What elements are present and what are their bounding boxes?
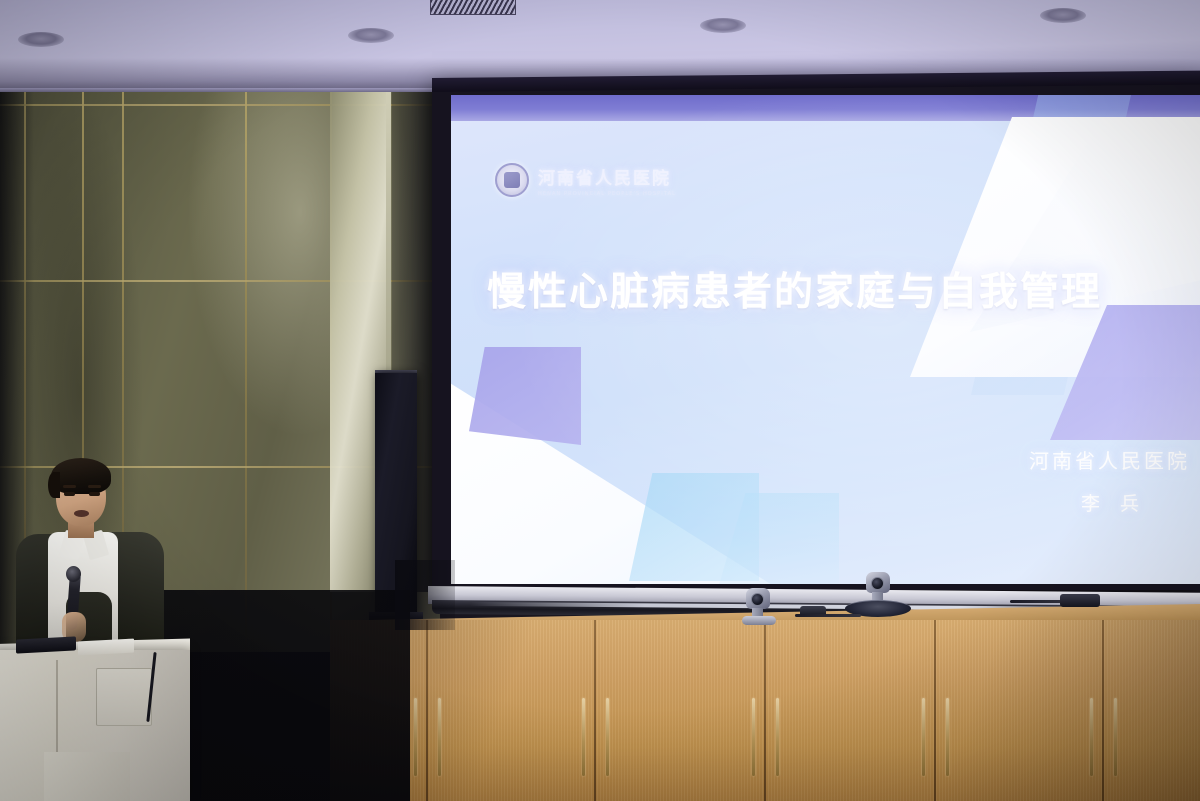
eyebrow-left — [63, 485, 76, 488]
cabinet-handle[interactable] — [1114, 698, 1117, 776]
slide-organization: 河南省人民医院 — [890, 445, 1190, 474]
hospital-name-cn: 河南省人民医院 — [538, 164, 676, 189]
eye-left — [64, 492, 75, 496]
cabinet-handle[interactable] — [922, 698, 925, 776]
hair — [51, 458, 111, 494]
slide-shape-purple-square — [469, 347, 581, 445]
hospital-logo-text: 河南省人民医院 HENAN PROVINCIAL PEOPLE'S HOSPIT… — [538, 164, 676, 197]
camera-lens-icon — [751, 593, 764, 606]
paper-sheet — [78, 639, 134, 656]
camera-lens-icon — [871, 577, 884, 590]
camera-base — [742, 616, 776, 625]
av-control-device — [1060, 594, 1100, 607]
slide-title: 慢性心脏病患者的家庭与自我管理 — [487, 261, 1187, 317]
cabinet-handle[interactable] — [414, 698, 417, 776]
cabinet-handle[interactable] — [606, 698, 609, 776]
hospital-logo: 河南省人民医院 HENAN PROVINCIAL PEOPLE'S HOSPIT… — [495, 163, 676, 197]
slide-presenter-name: 李 兵 — [886, 489, 1146, 516]
lectern-front-panel — [96, 668, 152, 726]
lectern-column — [44, 752, 130, 801]
presentation-slide: 河南省人民医院 HENAN PROVINCIAL PEOPLE'S HOSPIT… — [451, 95, 1200, 584]
microphone-head-icon — [66, 566, 81, 582]
cabinet-handle[interactable] — [1090, 698, 1093, 776]
cabinet-handle[interactable] — [582, 698, 585, 776]
cabinet-handle[interactable] — [776, 698, 779, 776]
hospital-name-en: HENAN PROVINCIAL PEOPLE'S HOSPITAL — [538, 191, 676, 197]
hair-side — [48, 472, 60, 498]
conference-room-photo: 河南省人民医院 HENAN PROVINCIAL PEOPLE'S HOSPIT… — [0, 0, 1200, 801]
edge-shadow — [395, 560, 455, 630]
downlight-icon — [348, 28, 394, 43]
mouth — [74, 510, 89, 517]
downlight-icon — [1040, 8, 1086, 23]
downlight-icon — [700, 18, 746, 33]
hospital-emblem-icon — [495, 163, 529, 197]
eyebrow-right — [88, 485, 101, 488]
eye-right — [89, 492, 100, 496]
cabinet-handle[interactable] — [946, 698, 949, 776]
cabinet-handle[interactable] — [438, 698, 441, 776]
wood-cabinet-run[interactable] — [330, 620, 1200, 801]
ceiling-air-vent — [430, 0, 516, 15]
downlight-icon — [18, 32, 64, 47]
device-cable — [795, 614, 861, 617]
cabinet-handle[interactable] — [752, 698, 755, 776]
